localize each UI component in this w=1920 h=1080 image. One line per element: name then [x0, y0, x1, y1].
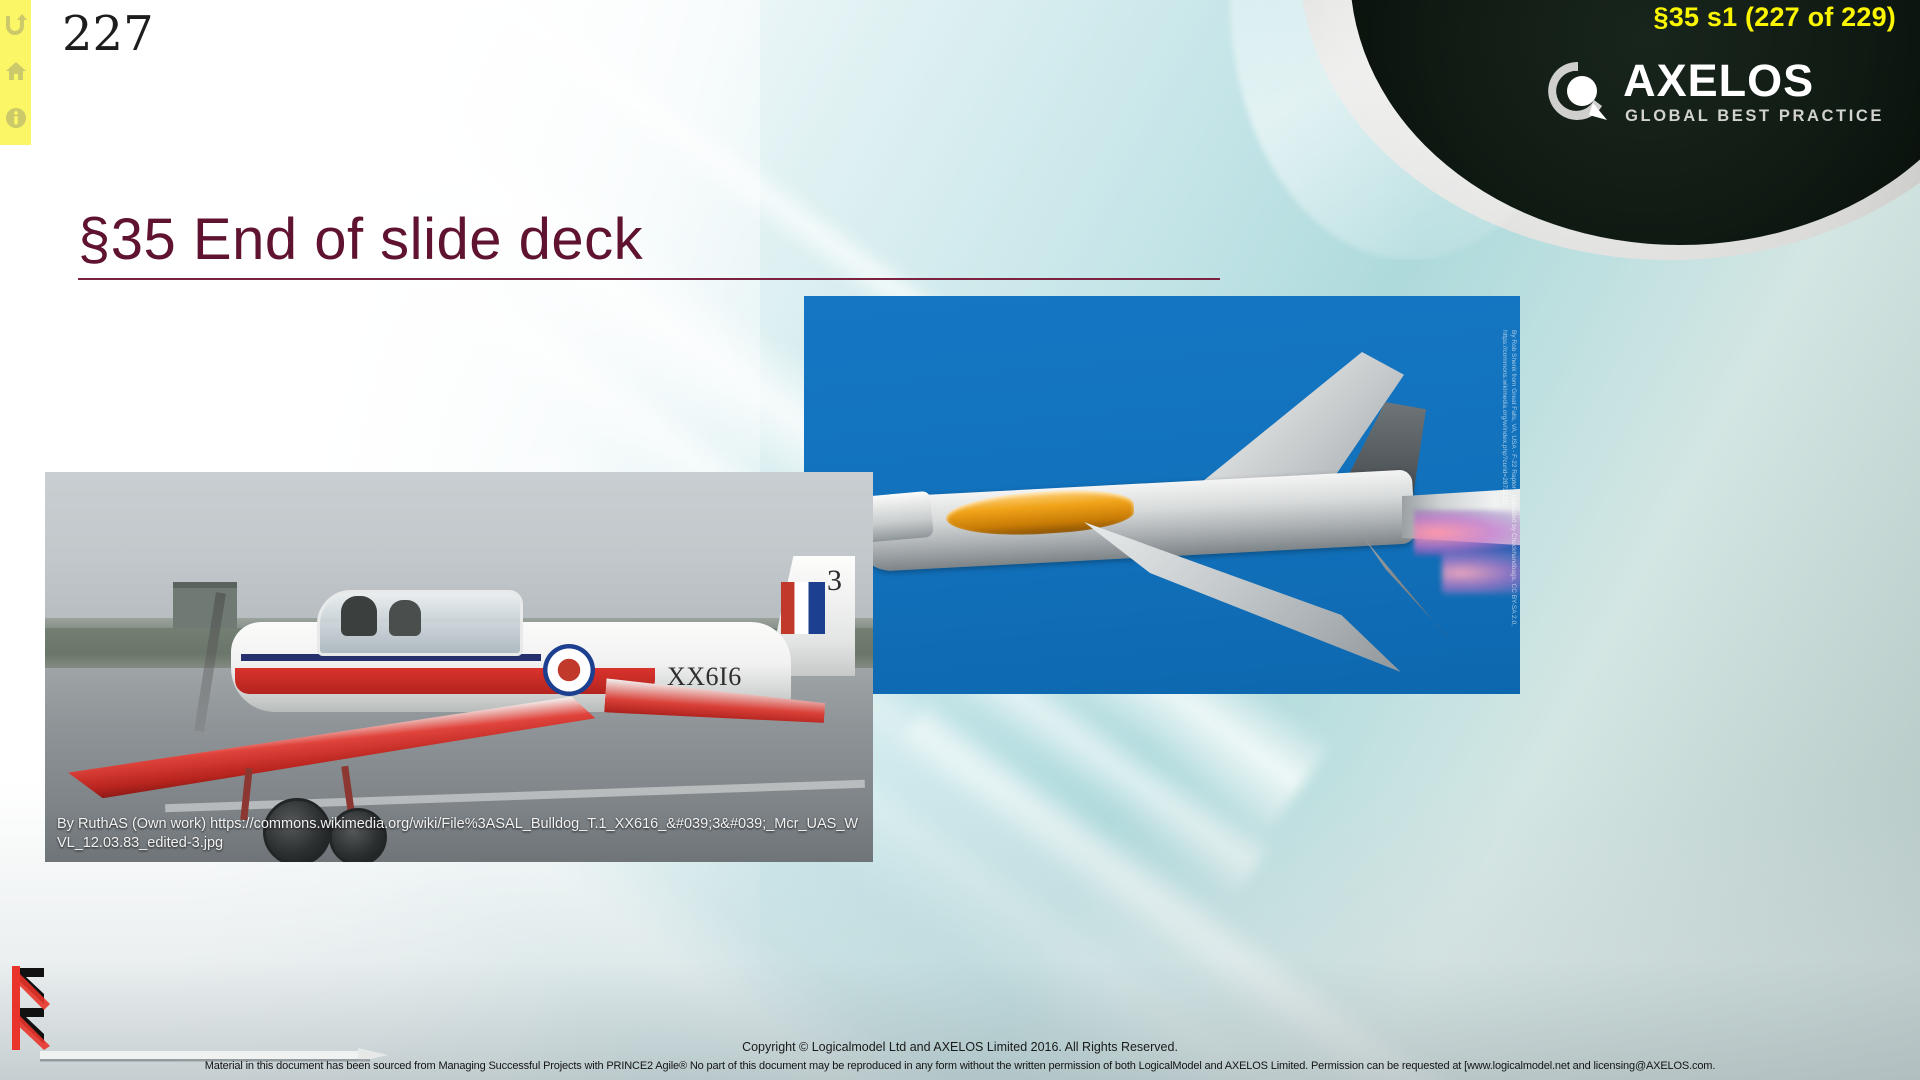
sidebar-item-home[interactable]	[0, 47, 31, 94]
jet-photo-attribution: By Rob Shenk from Great Falls, VA, USA -…	[1499, 330, 1517, 670]
info-icon	[5, 107, 27, 129]
bulldog-tail-number: 3	[827, 564, 842, 598]
footer-legal-notice: Material in this document has been sourc…	[0, 1060, 1920, 1072]
bulldog-raf-roundel	[543, 644, 595, 696]
back-navigation-button[interactable]	[10, 964, 70, 1052]
sidebar-toolbar[interactable]	[0, 0, 31, 145]
footer-copyright: Copyright © Logicalmodel Ltd and AXELOS …	[0, 1040, 1920, 1054]
axelos-wordmark: AXELOS GLOBAL BEST PRACTICE	[1623, 58, 1884, 125]
bulldog-background-hut	[173, 582, 237, 628]
bulldog-fin-flash	[781, 582, 825, 634]
slide-title: §35 End of slide deck	[78, 206, 643, 273]
axelos-name: AXELOS	[1623, 58, 1884, 103]
home-icon	[5, 60, 27, 82]
axelos-tagline: GLOBAL BEST PRACTICE	[1625, 108, 1884, 125]
header-blob	[1220, 0, 1920, 260]
bulldog-trainer-photo: 3 XX6I6 By RuthAS (Own work) https://com…	[45, 472, 873, 862]
sidebar-item-info[interactable]	[0, 94, 31, 141]
sidebar-item-return[interactable]	[0, 0, 31, 47]
jet-aircraft	[854, 392, 1494, 642]
page-number: 227	[62, 6, 154, 62]
axelos-swirl-icon	[1545, 58, 1611, 124]
axelos-logo: AXELOS GLOBAL BEST PRACTICE	[1545, 58, 1884, 125]
bulldog-passenger	[389, 600, 421, 636]
title-underline-rule	[78, 278, 1220, 280]
chapter-reference: §35 s1 (227 of 229)	[1654, 2, 1896, 33]
f22-raptor-photo: By Rob Shenk from Great Falls, VA, USA -…	[804, 296, 1520, 694]
presentation-slide: §35 s1 (227 of 229) AXELOS GLOBAL BEST P…	[0, 0, 1920, 1080]
bulldog-pilot	[341, 596, 377, 636]
bulldog-photo-caption: By RuthAS (Own work) https://commons.wik…	[57, 815, 867, 854]
return-arrow-icon	[5, 12, 27, 36]
